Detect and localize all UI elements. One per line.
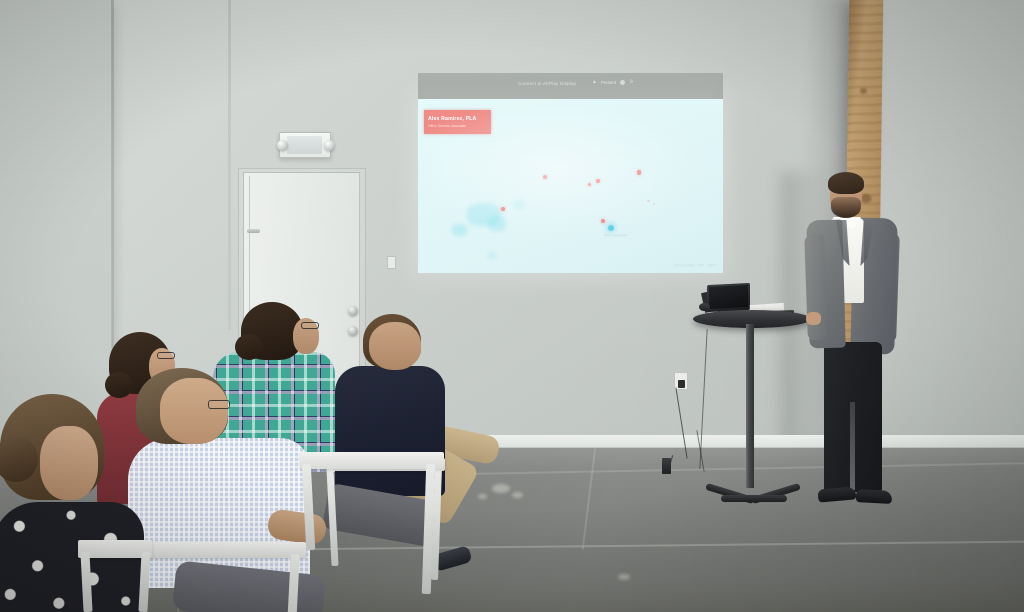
map-data-point[interactable] <box>543 175 547 179</box>
head <box>40 426 98 500</box>
presentation-room-photo: Connect to AirPlay Display ▲ Present ✰ <box>0 0 1024 612</box>
airplay-icon[interactable]: ▲ <box>592 80 597 85</box>
slide-canvas: Site Locations Alex Ramirez, PLA Office … <box>418 99 723 273</box>
map-landmass <box>488 252 496 259</box>
tablet-screen[interactable] <box>709 285 748 309</box>
presentation-ui-bar: Connect to AirPlay Display ▲ Present ✰ <box>418 73 723 99</box>
exit-light-bulb-icon <box>324 140 335 151</box>
slide-title-card: Alex Ramirez, PLA Office Director, Assoc… <box>424 110 491 134</box>
map-point-label: Site Locations <box>604 233 627 237</box>
exit-light-panel <box>287 136 322 154</box>
standing-speaker <box>800 170 910 515</box>
airplay-label[interactable]: Connect to AirPlay Display <box>518 81 576 86</box>
pointer-icon[interactable]: ✰ <box>629 80 633 85</box>
folding-chair-back[interactable] <box>300 452 444 469</box>
map-data-point[interactable] <box>653 203 655 205</box>
speaker-hair <box>828 172 864 194</box>
map-data-point[interactable] <box>647 200 650 203</box>
wall-seam <box>228 0 231 330</box>
glasses-icon <box>208 400 230 409</box>
speaker-shoe <box>856 489 893 504</box>
power-adapter-brick <box>662 458 671 474</box>
standing-pedestal-table <box>693 310 811 510</box>
map-data-point[interactable] <box>601 219 605 223</box>
speaker-shoe <box>818 486 857 502</box>
map-landmass <box>452 224 467 236</box>
slide-subtitle: Office Director, Associate <box>428 124 491 128</box>
glasses-icon <box>157 352 175 359</box>
map-data-point-selected[interactable] <box>608 225 614 231</box>
speaker-beard <box>831 197 861 218</box>
power-plug-icon <box>678 380 685 388</box>
slide-credit-text: Source data · GIS · 2019 <box>674 263 716 267</box>
head <box>369 322 421 370</box>
exit-light-bulb-icon <box>277 140 288 151</box>
table-post <box>746 324 754 488</box>
slide-title: Alex Ramirez, PLA <box>428 116 491 122</box>
speaker-hand <box>806 312 821 325</box>
map-data-point[interactable] <box>596 179 599 182</box>
audience-member-patterned <box>0 390 152 612</box>
map-data-point[interactable] <box>501 207 505 211</box>
map-data-point[interactable] <box>588 183 592 187</box>
hair-bun <box>235 334 263 360</box>
head <box>160 378 228 444</box>
map-landmass <box>488 216 506 232</box>
map-data-point[interactable] <box>637 170 641 174</box>
settings-gear-icon[interactable] <box>620 80 625 85</box>
door-lever-handle-icon[interactable] <box>247 229 260 233</box>
present-label[interactable]: Present <box>601 80 616 85</box>
speaker-leg-gap <box>850 402 855 490</box>
mouse-icon[interactable] <box>699 303 710 311</box>
wall-switch-plate[interactable] <box>387 256 396 269</box>
glasses-icon <box>301 322 319 329</box>
projected-presentation-screen: Connect to AirPlay Display ▲ Present ✰ <box>418 73 723 273</box>
table-base <box>705 482 803 508</box>
map-landmass <box>513 200 525 210</box>
